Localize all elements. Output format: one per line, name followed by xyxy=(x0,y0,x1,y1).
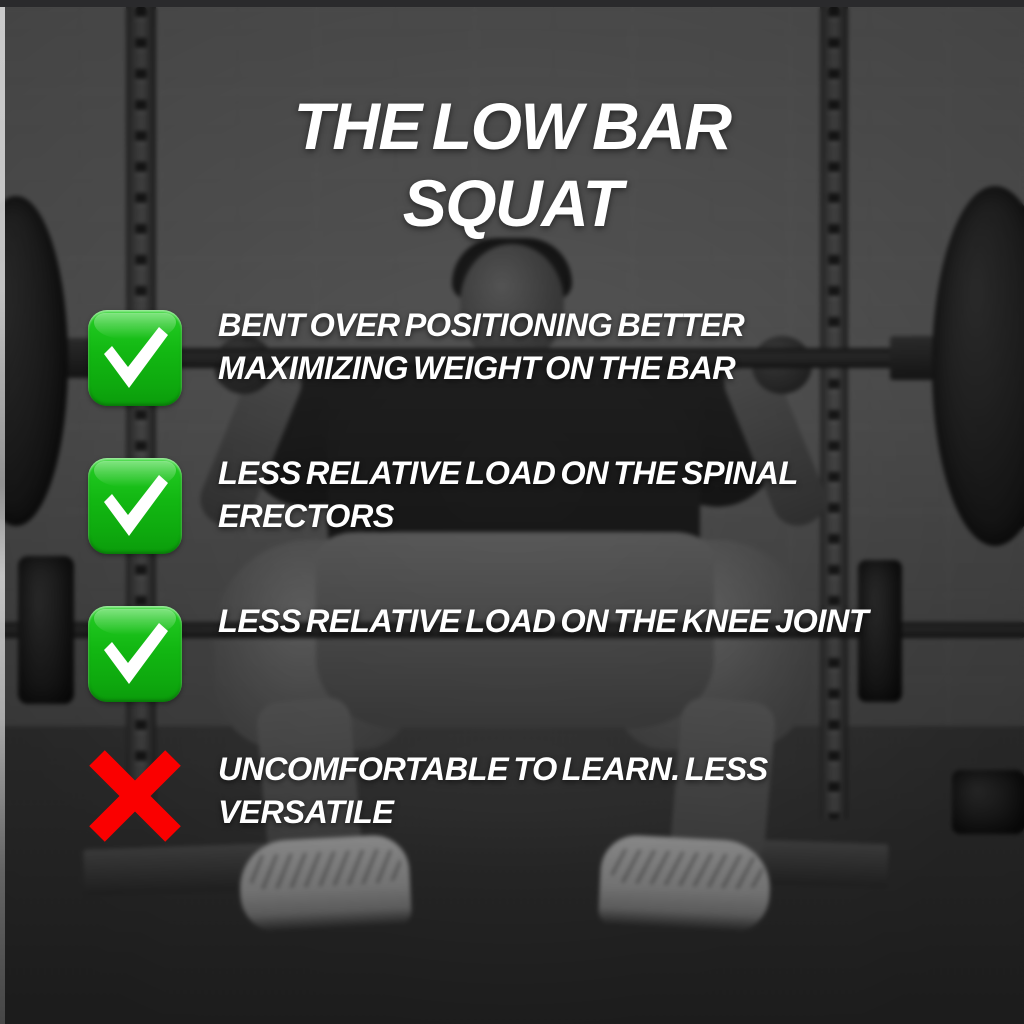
low-bar-squat-infographic: THE LOW BAR SQUAT BENT OVER POSITIONING … xyxy=(0,0,1024,1024)
page-title: THE LOW BAR SQUAT xyxy=(0,88,1024,242)
list-item-label: LESS RELATIVE LOAD ON THE KNEE JOINT xyxy=(218,600,918,643)
list-item-label: BENT OVER POSITIONING BETTER MAXIMIZING … xyxy=(218,304,918,389)
content-layer: THE LOW BAR SQUAT BENT OVER POSITIONING … xyxy=(0,0,1024,1024)
list-item: BENT OVER POSITIONING BETTER MAXIMIZING … xyxy=(0,304,1024,452)
list-item-label: LESS RELATIVE LOAD ON THE SPINAL ERECTOR… xyxy=(218,452,918,537)
check-mark-glyph xyxy=(88,310,182,406)
list-item-label: UNCOMFORTABLE TO LEARN. LESS VERSATILE xyxy=(218,748,918,833)
white-heavy-check-mark-icon xyxy=(88,606,182,702)
cross-mark-icon xyxy=(88,750,182,842)
list-item: UNCOMFORTABLE TO LEARN. LESS VERSATILE xyxy=(0,748,1024,896)
white-heavy-check-mark-icon xyxy=(88,310,182,406)
pros-cons-list: BENT OVER POSITIONING BETTER MAXIMIZING … xyxy=(0,304,1024,896)
check-mark-glyph xyxy=(88,458,182,554)
white-heavy-check-mark-icon xyxy=(88,458,182,554)
list-item: LESS RELATIVE LOAD ON THE SPINAL ERECTOR… xyxy=(0,452,1024,600)
check-mark-glyph xyxy=(88,606,182,702)
list-item: LESS RELATIVE LOAD ON THE KNEE JOINT xyxy=(0,600,1024,748)
